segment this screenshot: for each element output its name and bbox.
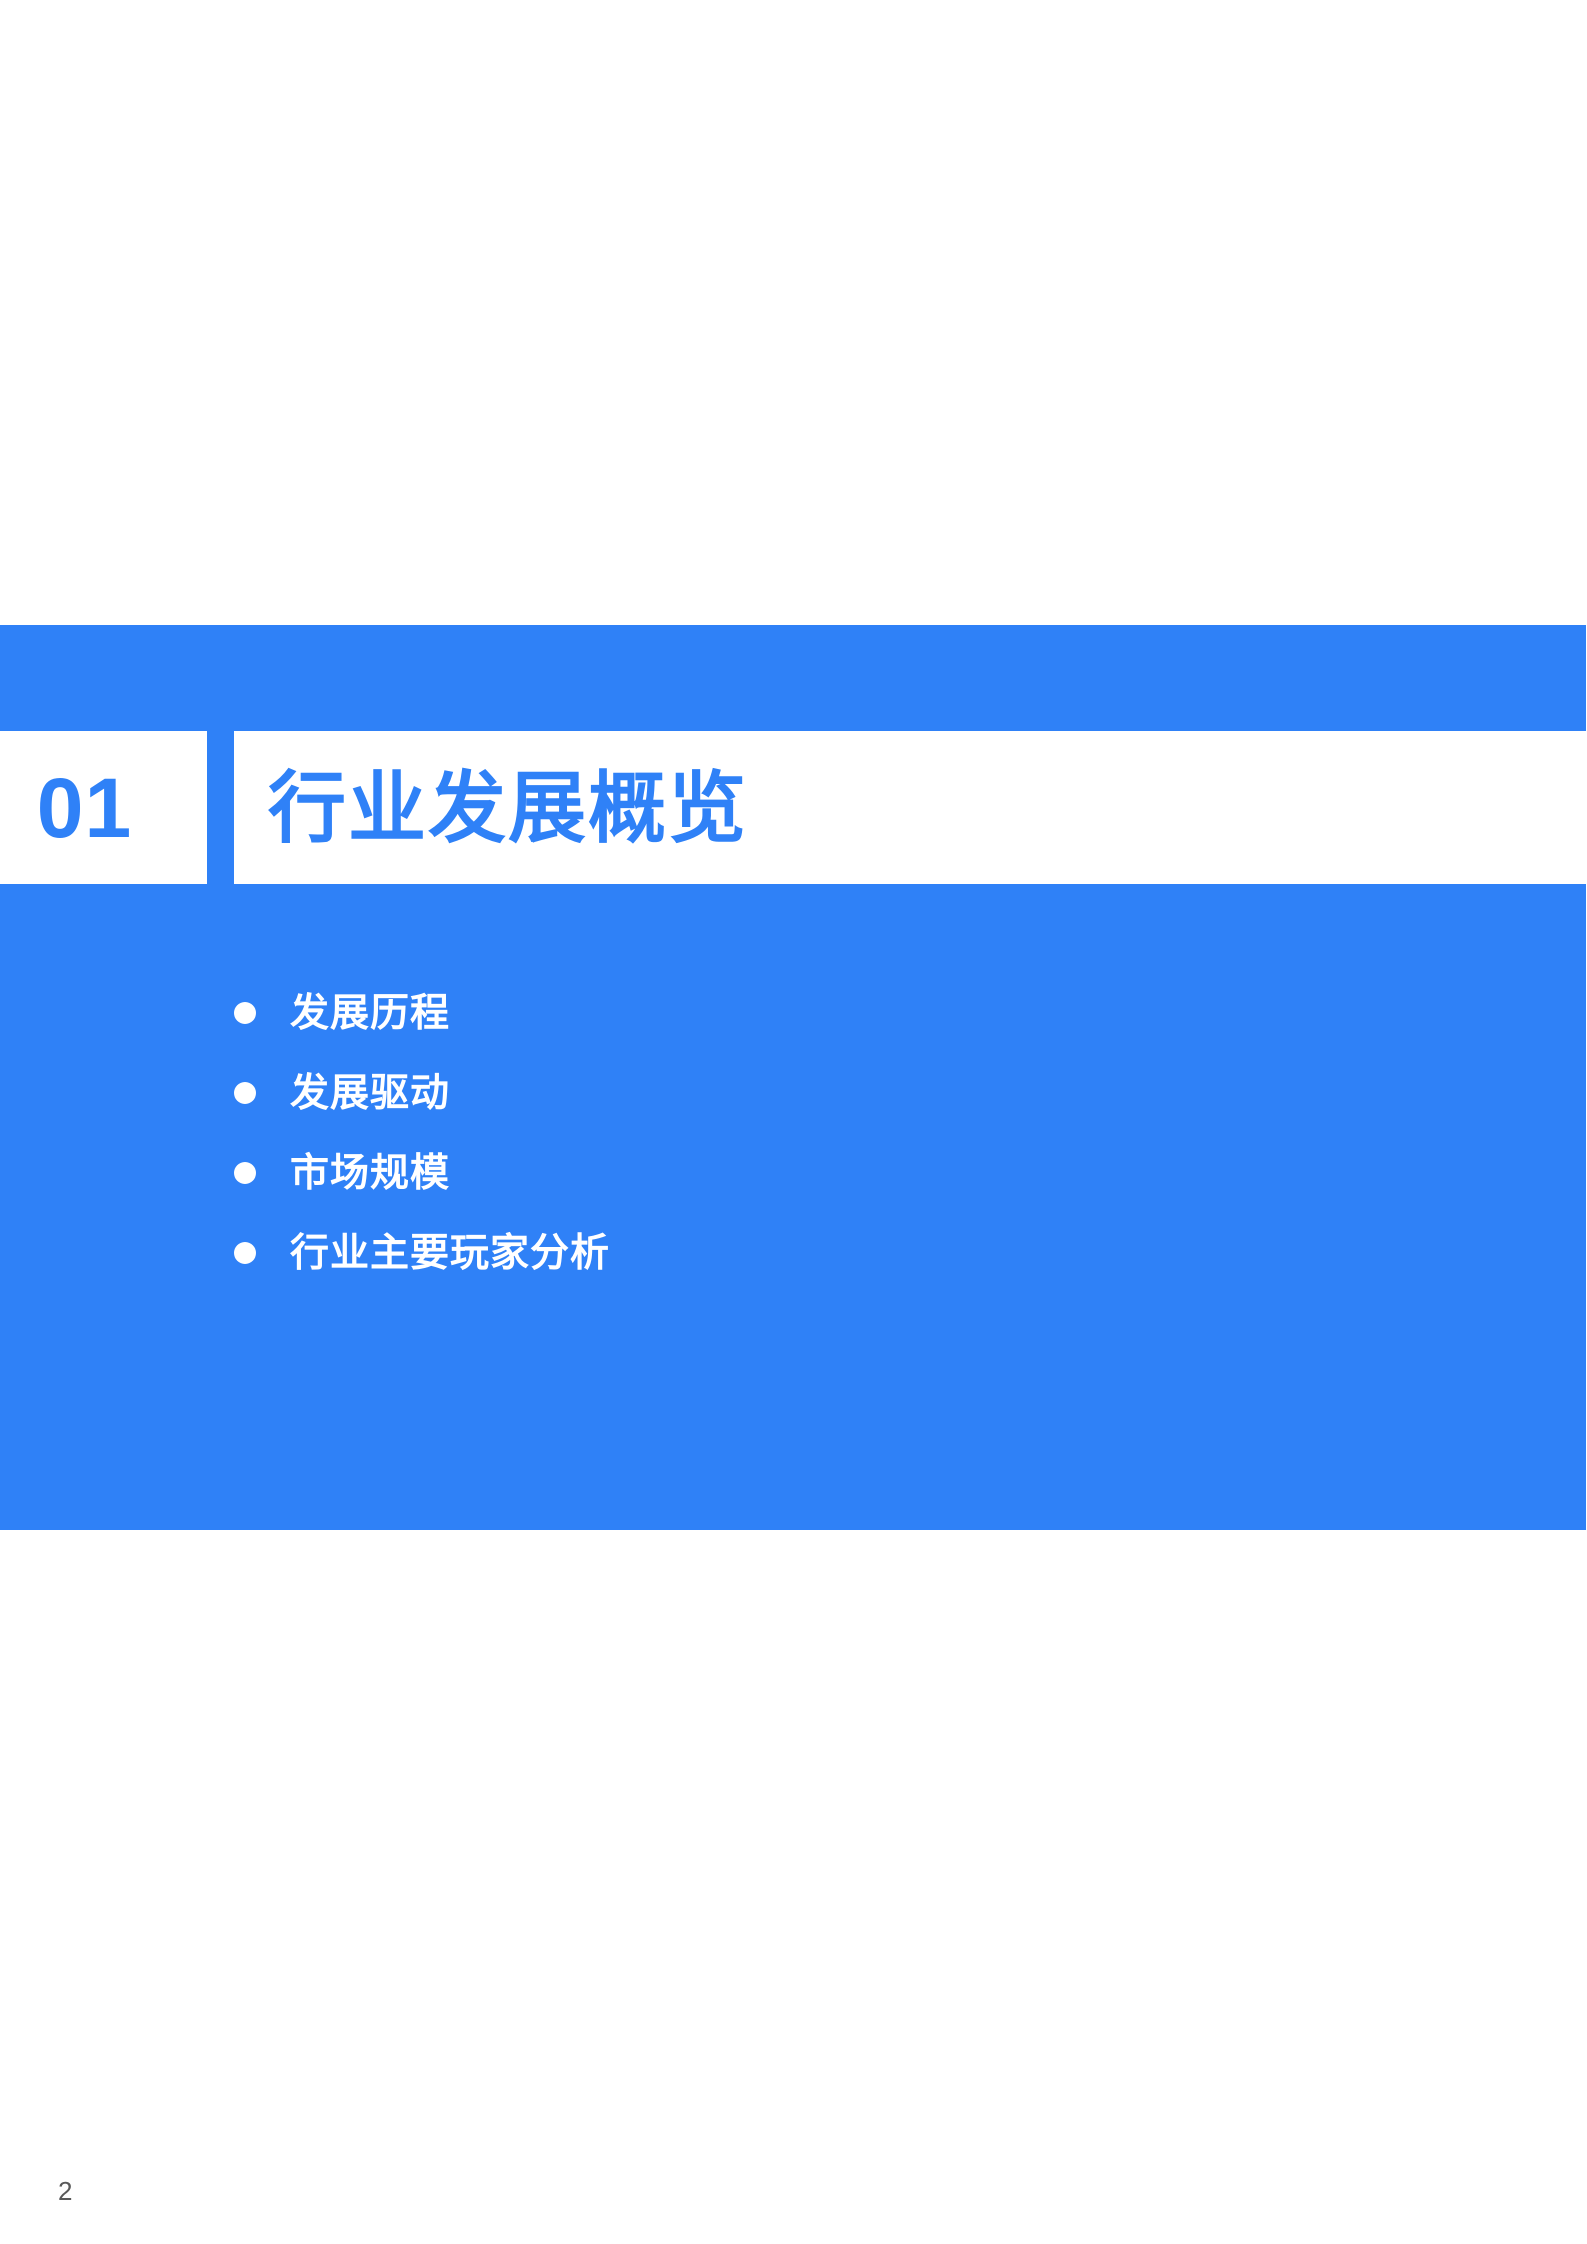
list-item: 行业主要玩家分析 [234,1213,1134,1293]
slide-page: 01 行业发展概览 发展历程 发展驱动 市场规模 行业主要 [0,0,1587,2244]
bullet-dot-icon [234,1002,256,1024]
list-item: 发展驱动 [234,1053,1134,1133]
list-item-label: 发展历程 [290,994,450,1033]
list-item: 市场规模 [234,1133,1134,1213]
section-number: 01 [37,766,132,850]
plate-divider-gap [207,731,234,884]
bullet-dot-icon [234,1242,256,1264]
section-divider-block: 01 行业发展概览 发展历程 发展驱动 市场规模 行业主要 [0,625,1586,1530]
list-item: 发展历程 [234,973,1134,1053]
section-title: 行业发展概览 [268,769,748,847]
list-item-label: 发展驱动 [290,1074,450,1113]
bullet-dot-icon [234,1082,256,1104]
section-header-band: 01 行业发展概览 [0,731,1587,884]
list-item-label: 市场规模 [290,1154,450,1193]
section-title-plate: 行业发展概览 [234,731,1587,884]
bullet-dot-icon [234,1162,256,1184]
section-number-plate: 01 [0,731,207,884]
section-bullet-list: 发展历程 发展驱动 市场规模 行业主要玩家分析 [234,973,1134,1293]
list-item-label: 行业主要玩家分析 [290,1234,610,1273]
page-number: 2 [58,2178,72,2204]
